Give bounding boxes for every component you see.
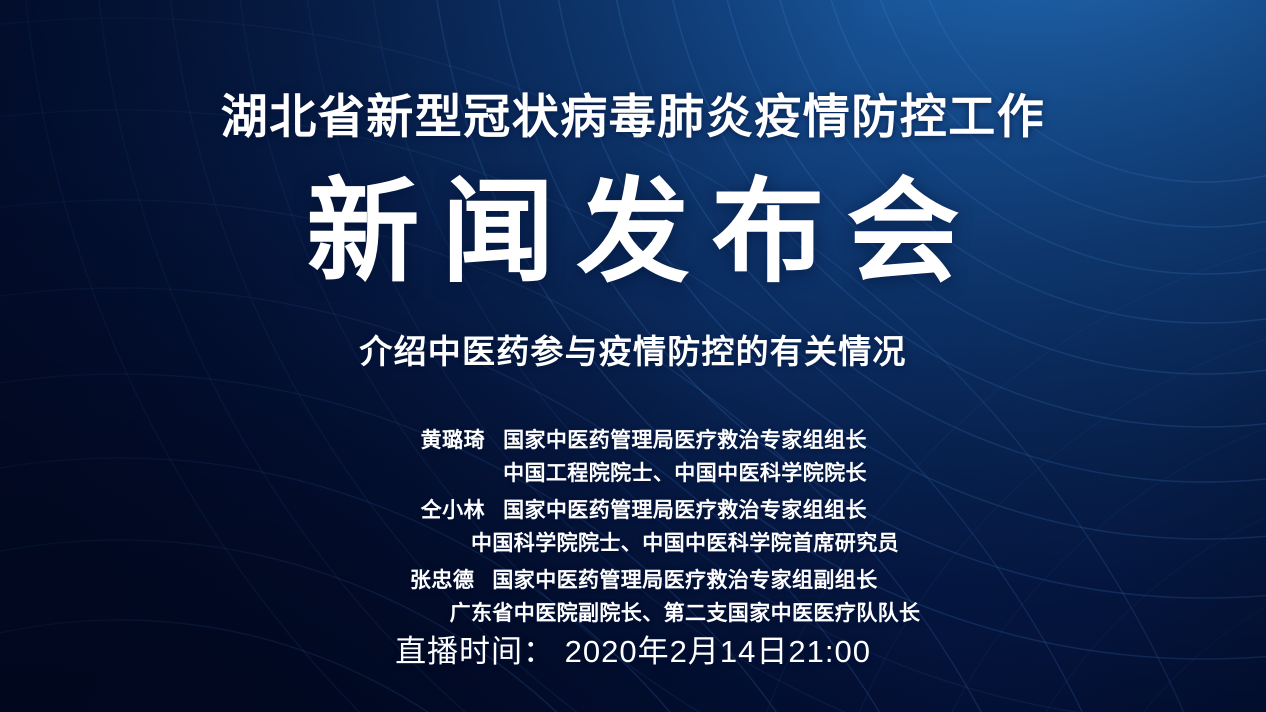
speaker-name: 张忠德 (388, 564, 474, 594)
speaker-list: 黄璐琦 国家中医药管理局医疗救治专家组组长 中国工程院院士、中国中医科学院院长 … (0, 424, 1266, 627)
speaker-affiliation: 中国工程院院士、中国中医科学院院长 (0, 457, 1266, 487)
page-title: 湖北省新型冠状病毒肺炎疫情防控工作 (0, 89, 1266, 144)
speaker-primary-row: 仝小林 国家中医药管理局医疗救治专家组组长 (0, 494, 1266, 524)
poster-content: 湖北省新型冠状病毒肺炎疫情防控工作 新闻发布会 介绍中医药参与疫情防控的有关情况… (0, 0, 1266, 712)
broadcast-time: 直播时间： 2020年2月14日21:00 (0, 633, 1266, 670)
speaker-primary-row: 张忠德 国家中医药管理局医疗救治专家组副组长 (0, 564, 1266, 594)
speaker-role: 国家中医药管理局医疗救治专家组组长 (503, 494, 867, 524)
press-conference-poster: 湖北省新型冠状病毒肺炎疫情防控工作 新闻发布会 介绍中医药参与疫情防控的有关情况… (0, 0, 1266, 712)
speaker-affiliation: 中国科学院院士、中国中医科学院首席研究员 (0, 527, 1266, 557)
speaker-primary-row: 黄璐琦 国家中医药管理局医疗救治专家组组长 (0, 424, 1266, 454)
subtitle: 介绍中医药参与疫情防控的有关情况 (0, 332, 1266, 372)
list-item: 黄璐琦 国家中医药管理局医疗救治专家组组长 中国工程院院士、中国中医科学院院长 (0, 424, 1266, 487)
headline: 新闻发布会 (0, 166, 1266, 299)
speaker-role: 国家中医药管理局医疗救治专家组副组长 (492, 564, 877, 594)
speaker-role: 国家中医药管理局医疗救治专家组组长 (503, 424, 867, 454)
speaker-name: 仝小林 (399, 494, 485, 524)
speaker-name: 黄璐琦 (399, 424, 485, 454)
list-item: 张忠德 国家中医药管理局医疗救治专家组副组长 广东省中医院副院长、第二支国家中医… (0, 564, 1266, 627)
list-item: 仝小林 国家中医药管理局医疗救治专家组组长 中国科学院院士、中国中医科学院首席研… (0, 494, 1266, 557)
speaker-affiliation: 广东省中医院副院长、第二支国家中医医疗队队长 (0, 597, 1266, 627)
